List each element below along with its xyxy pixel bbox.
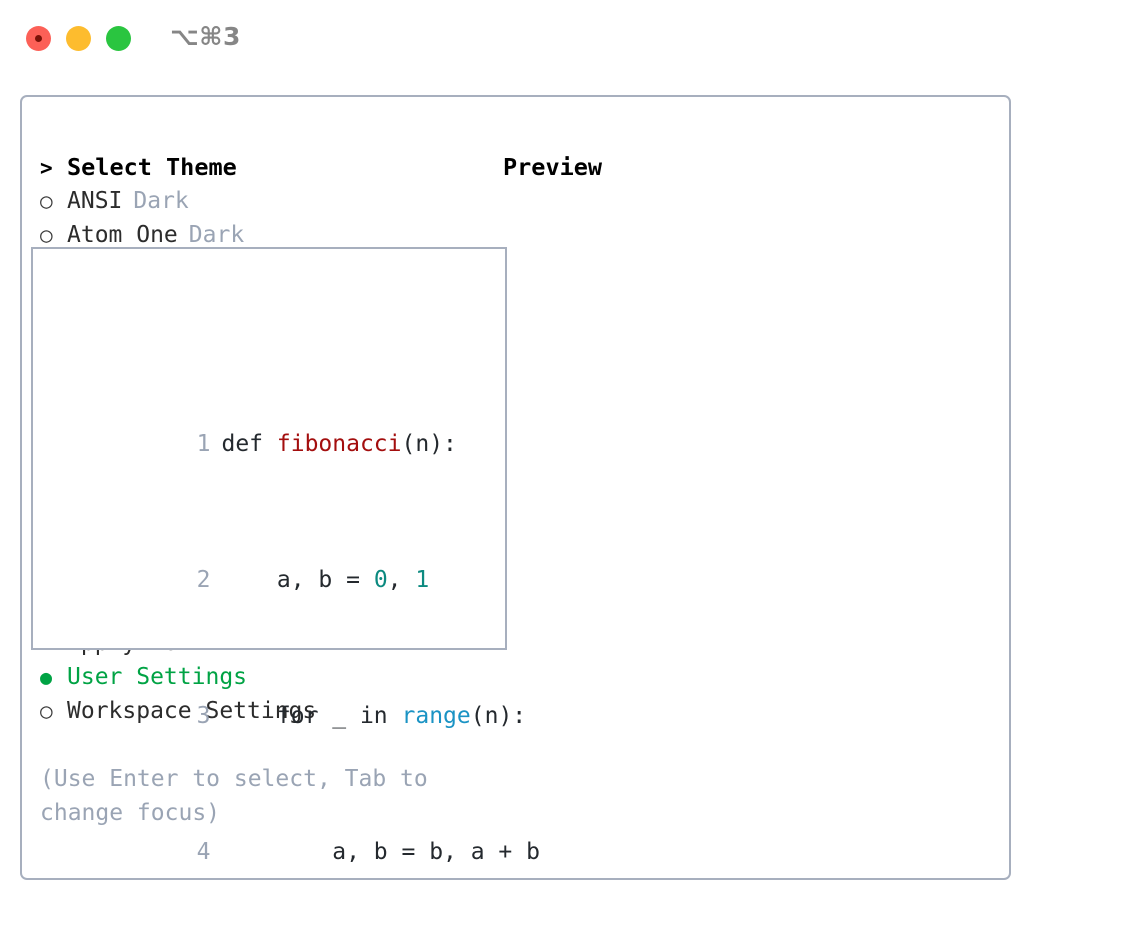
- code-token-builtin: range: [402, 703, 471, 729]
- theme-option-tag: Dark: [189, 222, 244, 248]
- radio-unselected-icon: ○: [40, 184, 67, 218]
- line-number: 4: [185, 835, 210, 869]
- zoom-button[interactable]: [106, 26, 131, 51]
- select-theme-heading: >Select Theme: [40, 150, 480, 184]
- code-sample: 1def fibonacci(n): 2 a, b = 0, 1 3 for _…: [47, 291, 567, 934]
- theme-picker-panel: >Select Theme ○ANSIDark ○Atom OneDark ○A…: [20, 95, 1011, 880]
- theme-option-ansi-dark[interactable]: ○ANSIDark: [40, 184, 480, 218]
- theme-option-label: Atom One: [67, 222, 178, 248]
- code-token: a, b = b, a + b: [221, 839, 540, 865]
- code-token-function: fibonacci: [277, 431, 402, 457]
- code-token-number: 0: [374, 567, 388, 593]
- preview-column: Preview: [503, 150, 602, 184]
- code-token-number: 1: [415, 567, 429, 593]
- code-line: 2 a, b = 0, 1: [47, 529, 567, 563]
- select-theme-heading-label: Select Theme: [67, 153, 237, 181]
- code-token: ,: [388, 567, 416, 593]
- title-bar: ⌥⌘3: [0, 0, 1140, 78]
- code-line: 1def fibonacci(n):: [47, 393, 567, 427]
- line-number: 3: [185, 699, 210, 733]
- code-token: a, b =: [221, 567, 373, 593]
- code-token: (n):: [471, 703, 526, 729]
- theme-option-tag: Dark: [133, 188, 188, 214]
- minimize-button[interactable]: [66, 26, 91, 51]
- code-token: def: [221, 431, 276, 457]
- preview-box: 1def fibonacci(n): 2 a, b = 0, 1 3 for _…: [31, 247, 507, 650]
- code-line: 4 a, b = b, a + b: [47, 801, 567, 835]
- code-token: for _ in: [221, 703, 401, 729]
- preview-heading: Preview: [503, 150, 602, 184]
- code-line: 3 for _ in range(n):: [47, 665, 567, 699]
- close-button[interactable]: [26, 26, 51, 51]
- terminal-window: ⌥⌘3 >Select Theme ○ANSIDark ○Atom OneDar…: [0, 0, 1140, 934]
- close-icon: [35, 35, 42, 42]
- line-number: 2: [185, 563, 210, 597]
- theme-option-label: ANSI: [67, 188, 122, 214]
- prompt-caret-icon: >: [40, 151, 67, 185]
- line-number: 1: [185, 427, 210, 461]
- code-token: (n):: [402, 431, 457, 457]
- keyboard-shortcut-label: ⌥⌘3: [170, 22, 241, 51]
